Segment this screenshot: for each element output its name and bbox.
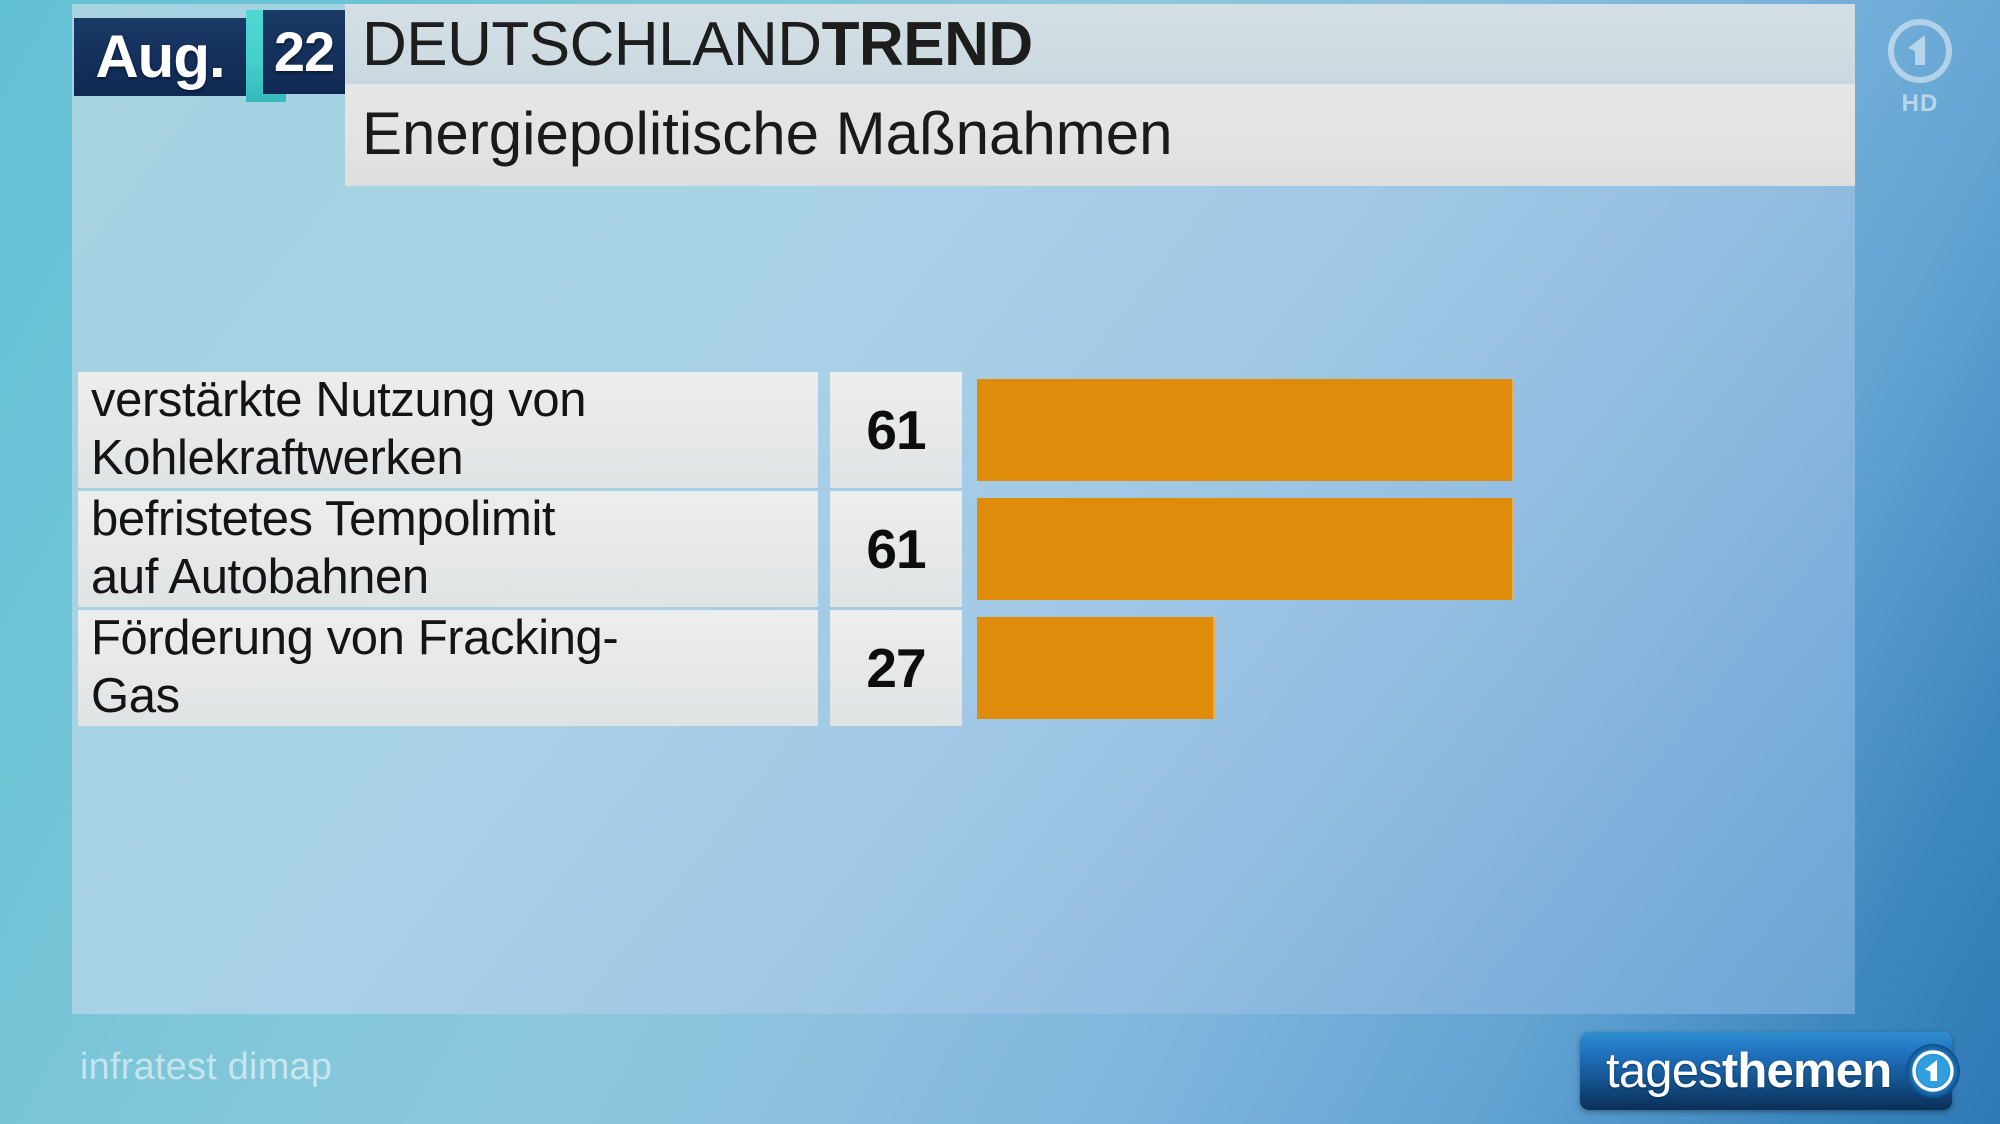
- row-value-cell: 61: [830, 491, 962, 607]
- month-badge-label: Aug.: [95, 27, 224, 87]
- row-bar: [977, 617, 1215, 719]
- row-label-line1: befristetes Tempolimit: [91, 491, 555, 549]
- show-logo-light-part: tages: [1606, 1044, 1722, 1098]
- title-bold-part: TREND: [822, 14, 1033, 76]
- row-label-line1: verstärkte Nutzung von: [91, 372, 586, 430]
- row-value-text: 61: [866, 522, 925, 577]
- row-label-cell: Förderung von Fracking- Gas: [78, 610, 818, 726]
- table-row: Förderung von Fracking- Gas 27: [78, 610, 1857, 726]
- page-subtitle-label: Energiepolitische Maßnahmen: [362, 104, 1172, 164]
- ard-one-icon: [1887, 18, 1953, 84]
- row-value-cell: 61: [830, 372, 962, 488]
- broadcast-graphic: Aug. 22 DEUTSCHLAND TREND Energiepolitis…: [0, 0, 2000, 1124]
- row-label-line1: Förderung von Fracking-: [91, 610, 618, 668]
- year-badge-label: 22: [274, 24, 334, 80]
- row-bar-track: [977, 491, 1857, 607]
- row-value-text: 61: [866, 403, 925, 458]
- year-badge: 22: [263, 10, 345, 94]
- cell-divider: [818, 372, 830, 488]
- hd-label: HD: [1878, 92, 1962, 116]
- row-label-text: Förderung von Fracking- Gas: [91, 610, 618, 726]
- show-logo: tagesthemen: [1580, 1032, 1952, 1110]
- ard-circle-icon: [1905, 1043, 1961, 1099]
- row-value-text: 27: [866, 641, 925, 696]
- row-label-line2: auf Autobahnen: [91, 549, 555, 607]
- row-label-line2: Gas: [91, 668, 618, 726]
- row-bar-track: [977, 610, 1857, 726]
- page-title: DEUTSCHLAND TREND: [362, 9, 1033, 81]
- show-logo-bold-part: themen: [1722, 1044, 1891, 1098]
- row-label-cell: befristetes Tempolimit auf Autobahnen: [78, 491, 818, 607]
- row-bar-track: [977, 372, 1857, 488]
- row-label-cell: verstärkte Nutzung von Kohlekraftwerken: [78, 372, 818, 488]
- table-row: verstärkte Nutzung von Kohlekraftwerken …: [78, 372, 1857, 488]
- row-value-cell: 27: [830, 610, 962, 726]
- page-subtitle: Energiepolitische Maßnahmen: [362, 84, 1172, 184]
- row-bar: [977, 498, 1514, 600]
- month-badge: Aug.: [74, 18, 246, 96]
- table-row: befristetes Tempolimit auf Autobahnen 61: [78, 491, 1857, 607]
- source-credit: infratest dimap: [80, 1048, 332, 1086]
- row-label-text: verstärkte Nutzung von Kohlekraftwerken: [91, 372, 586, 488]
- title-light-part: DEUTSCHLAND: [362, 14, 822, 76]
- row-label-line2: Kohlekraftwerken: [91, 430, 586, 488]
- show-logo-text: tagesthemen: [1606, 1047, 1891, 1096]
- row-bar: [977, 379, 1514, 481]
- cell-divider: [818, 610, 830, 726]
- row-label-text: befristetes Tempolimit auf Autobahnen: [91, 491, 555, 607]
- broadcaster-watermark: HD: [1878, 18, 1962, 116]
- cell-divider: [818, 491, 830, 607]
- bar-chart: verstärkte Nutzung von Kohlekraftwerken …: [78, 372, 1857, 729]
